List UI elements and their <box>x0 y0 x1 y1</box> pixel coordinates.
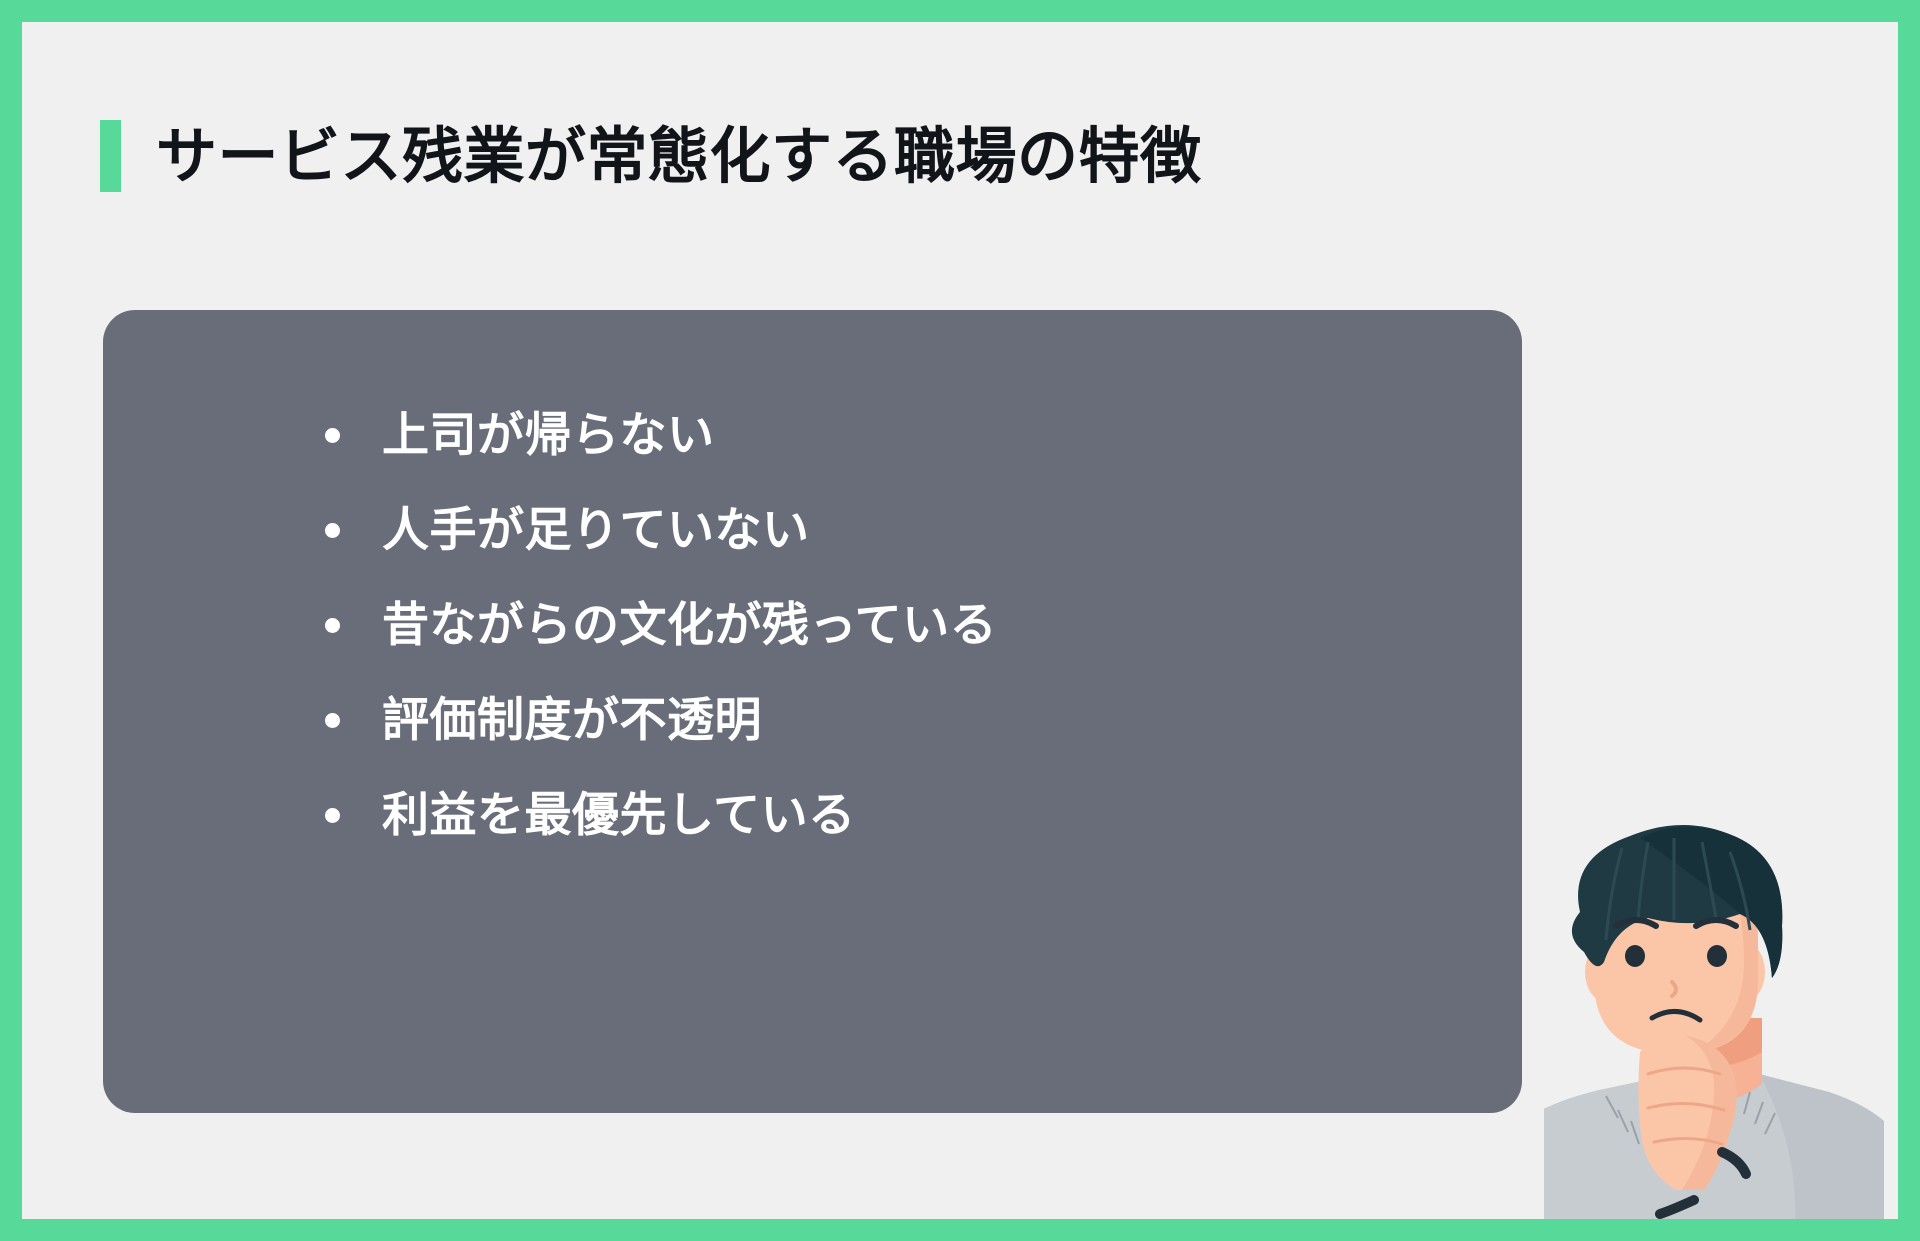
feature-bullet-list: 上司が帰らない 人手が足りていない 昔ながらの文化が残っている 評価制度が不透明… <box>325 388 997 863</box>
thinking-man-illustration <box>1544 822 1884 1219</box>
bullet-dot-icon <box>325 523 340 538</box>
title-accent-bar <box>100 120 121 192</box>
list-item: 上司が帰らない <box>325 388 997 483</box>
list-item-label: 利益を最優先している <box>382 792 856 839</box>
list-item: 利益を最優先している <box>325 768 997 863</box>
bullet-dot-icon <box>325 713 340 728</box>
list-item-label: 人手が足りていない <box>382 507 810 554</box>
list-item-label: 昔ながらの文化が残っている <box>382 602 997 649</box>
slide-canvas: サービス残業が常態化する職場の特徴 上司が帰らない 人手が足りていない 昔ながら… <box>22 22 1898 1219</box>
content-card: 上司が帰らない 人手が足りていない 昔ながらの文化が残っている 評価制度が不透明… <box>103 310 1522 1113</box>
list-item-label: 上司が帰らない <box>382 412 715 459</box>
slide-root: サービス残業が常態化する職場の特徴 上司が帰らない 人手が足りていない 昔ながら… <box>0 0 1920 1241</box>
bullet-dot-icon <box>325 428 340 443</box>
page-title: サービス残業が常態化する職場の特徴 <box>100 120 1202 192</box>
list-item: 評価制度が不透明 <box>325 673 997 768</box>
list-item: 昔ながらの文化が残っている <box>325 578 997 673</box>
list-item: 人手が足りていない <box>325 483 997 578</box>
list-item-label: 評価制度が不透明 <box>382 697 762 744</box>
bullet-dot-icon <box>325 808 340 823</box>
bullet-dot-icon <box>325 618 340 633</box>
page-title-text: サービス残業が常態化する職場の特徴 <box>156 126 1202 187</box>
